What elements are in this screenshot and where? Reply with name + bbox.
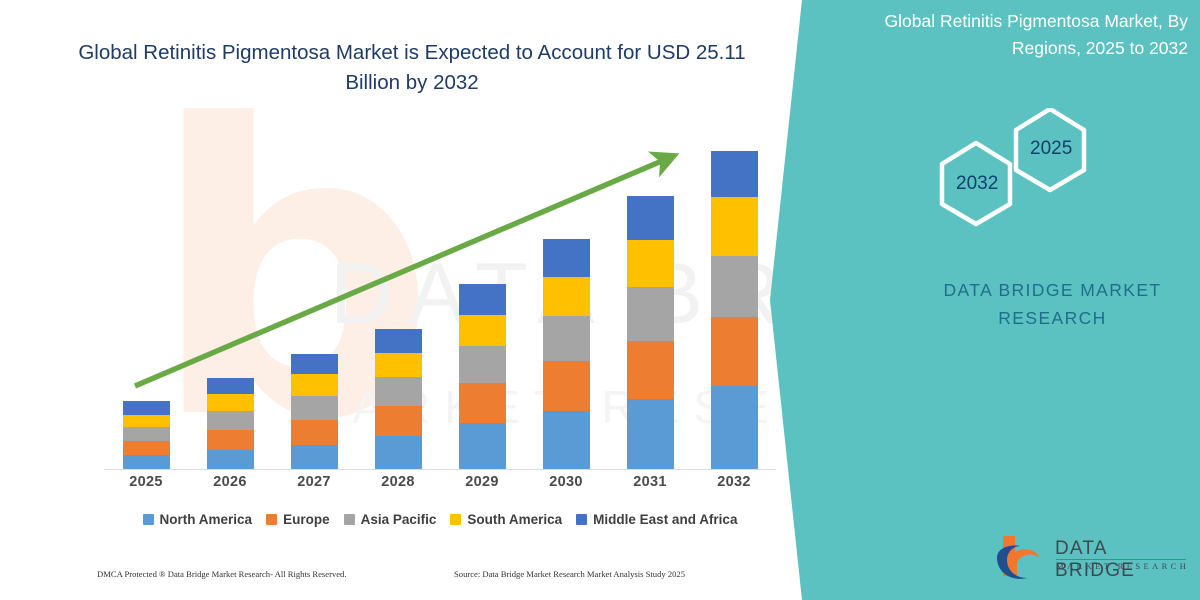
bar-slot [188, 378, 272, 469]
brand-line-1: DATA BRIDGE MARKET [915, 276, 1190, 304]
stacked-bar[interactable] [543, 239, 590, 469]
logo-text-primary: DATA BRIDGE [1055, 538, 1193, 582]
bar-segment[interactable] [459, 423, 506, 469]
legend-label: Middle East and Africa [593, 512, 737, 527]
legend-item[interactable]: Asia Pacific [344, 512, 437, 527]
bar-segment[interactable] [207, 430, 254, 450]
hexagon-label-2025: 2025 [1030, 138, 1072, 160]
legend-label: Europe [283, 512, 330, 527]
bar-segment[interactable] [459, 346, 506, 383]
bar-segment[interactable] [627, 399, 674, 469]
bar-segment[interactable] [375, 353, 422, 377]
bar-segment[interactable] [207, 411, 254, 430]
legend-label: Asia Pacific [361, 512, 437, 527]
x-axis-tick-label: 2032 [692, 474, 776, 490]
brand-name: DATA BRIDGE MARKET RESEARCH [915, 276, 1190, 332]
bar-segment[interactable] [123, 427, 170, 441]
data-bridge-logo: DATA BRIDGE MARKET RESEARCH [993, 534, 1193, 586]
bar-segment[interactable] [291, 396, 338, 420]
legend-item[interactable]: North America [143, 512, 253, 527]
x-axis-labels: 20252026202720282029203020312032 [104, 474, 776, 490]
bar-segment[interactable] [627, 196, 674, 240]
bar-slot [524, 239, 608, 469]
stacked-bar[interactable] [711, 151, 758, 469]
stacked-bar[interactable] [207, 378, 254, 469]
footer-copyright: DMCA Protected ® Data Bridge Market Rese… [97, 569, 347, 579]
bar-segment[interactable] [291, 420, 338, 445]
legend-item[interactable]: Middle East and Africa [576, 512, 737, 527]
page-title: Global Retinitis Pigmentosa Market is Ex… [62, 38, 762, 98]
bar-segment[interactable] [711, 317, 758, 385]
bar-segment[interactable] [459, 315, 506, 347]
bar-segment[interactable] [291, 354, 338, 374]
year-hexagons: 2025 2032 [920, 108, 1120, 228]
logo-text-secondary: MARKET RESEARCH [1056, 561, 1189, 571]
bar-segment[interactable] [375, 436, 422, 469]
x-axis-tick-label: 2028 [356, 474, 440, 490]
bar-slot [440, 284, 524, 469]
bar-segment[interactable] [459, 284, 506, 314]
bar-segment[interactable] [123, 441, 170, 455]
logo-mark-icon [993, 534, 1051, 584]
footer-source: Source: Data Bridge Market Research Mark… [454, 569, 685, 579]
bar-segment[interactable] [291, 445, 338, 469]
bar-segment[interactable] [375, 329, 422, 353]
stacked-bar[interactable] [375, 329, 422, 469]
bar-segment[interactable] [543, 316, 590, 362]
x-axis-tick-label: 2029 [440, 474, 524, 490]
right-panel-title: Global Retinitis Pigmentosa Market, By R… [820, 8, 1188, 62]
legend-swatch-icon [344, 514, 355, 525]
bar-segment[interactable] [543, 277, 590, 316]
x-axis-tick-label: 2027 [272, 474, 356, 490]
bar-segment[interactable] [459, 383, 506, 423]
bar-segment[interactable] [207, 378, 254, 394]
bar-segment[interactable] [123, 455, 170, 469]
bar-slot [356, 329, 440, 469]
bar-segment[interactable] [123, 415, 170, 428]
bar-segment[interactable] [711, 256, 758, 317]
x-axis-line [104, 469, 776, 470]
stacked-bar[interactable] [291, 354, 338, 469]
legend-item[interactable]: South America [450, 512, 562, 527]
x-axis-tick-label: 2025 [104, 474, 188, 490]
x-axis-tick-label: 2030 [524, 474, 608, 490]
bar-segment[interactable] [543, 411, 590, 469]
stacked-bar[interactable] [123, 401, 170, 469]
bar-segment[interactable] [543, 239, 590, 277]
bar-segment[interactable] [123, 401, 170, 415]
stacked-bar-chart [104, 140, 776, 470]
bar-segment[interactable] [207, 394, 254, 410]
legend-swatch-icon [576, 514, 587, 525]
x-axis-tick-label: 2026 [188, 474, 272, 490]
bar-segment[interactable] [711, 151, 758, 197]
bar-segment[interactable] [627, 341, 674, 399]
bar-segment[interactable] [711, 386, 758, 470]
bar-slot [272, 354, 356, 469]
bar-slot [692, 151, 776, 469]
legend-swatch-icon [143, 514, 154, 525]
chart-bars [104, 140, 776, 469]
bar-segment[interactable] [711, 197, 758, 256]
bar-segment[interactable] [291, 374, 338, 396]
bar-segment[interactable] [543, 361, 590, 410]
bar-segment[interactable] [375, 377, 422, 406]
chart-legend: North AmericaEuropeAsia PacificSouth Ame… [104, 512, 776, 527]
stacked-bar[interactable] [627, 196, 674, 469]
bar-slot [608, 196, 692, 469]
legend-swatch-icon [450, 514, 461, 525]
legend-swatch-icon [266, 514, 277, 525]
hexagon-label-2032: 2032 [956, 173, 998, 195]
legend-label: North America [160, 512, 253, 527]
bar-slot [104, 401, 188, 469]
legend-label: South America [467, 512, 562, 527]
x-axis-tick-label: 2031 [608, 474, 692, 490]
stacked-bar[interactable] [459, 284, 506, 469]
bar-segment[interactable] [627, 240, 674, 287]
brand-line-2: RESEARCH [915, 304, 1190, 332]
bar-segment[interactable] [207, 450, 254, 469]
bar-segment[interactable] [375, 406, 422, 436]
legend-item[interactable]: Europe [266, 512, 330, 527]
bar-segment[interactable] [627, 287, 674, 341]
